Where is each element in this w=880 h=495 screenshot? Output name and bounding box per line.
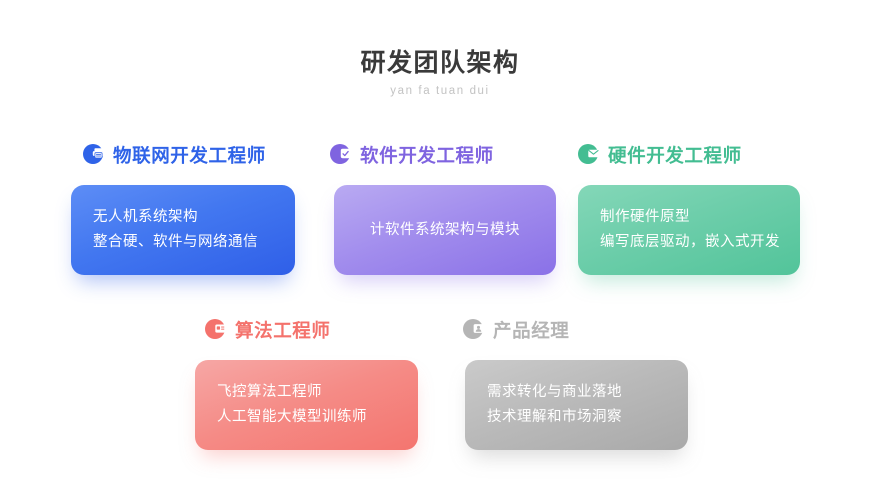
card-line: 整合硬、软件与网络通信	[93, 230, 273, 255]
card-line: 需求转化与商业落地	[487, 380, 666, 405]
role-heading-label: 软件开发工程师	[360, 142, 494, 168]
role-heading-software[interactable]: 软件开发工程师	[330, 142, 494, 168]
role-card-software[interactable]: 计软件系统架构与模块	[334, 185, 556, 275]
envelope-icon	[578, 144, 600, 166]
card-line: 飞控算法工程师	[217, 380, 396, 405]
role-heading-product[interactable]: 产品经理	[463, 317, 569, 343]
role-heading-iot[interactable]: 物联网开发工程师	[83, 142, 266, 168]
badge-glyph	[339, 147, 352, 160]
role-heading-label: 物联网开发工程师	[113, 142, 266, 168]
role-heading-algorithm[interactable]: 算法工程师	[205, 317, 331, 343]
role-card-hardware[interactable]: 制作硬件原型 编写底层驱动，嵌入式开发	[578, 185, 800, 275]
clipboard-check-icon	[330, 144, 352, 166]
user-badge-icon	[463, 319, 485, 341]
role-heading-label: 产品经理	[493, 317, 569, 343]
card-line: 技术理解和市场洞察	[487, 405, 666, 430]
badge-glyph	[92, 147, 105, 160]
role-heading-label: 硬件开发工程师	[608, 142, 742, 168]
role-heading-label: 算法工程师	[235, 317, 331, 343]
card-line: 计软件系统架构与模块	[356, 218, 534, 243]
card-line: 制作硬件原型	[600, 205, 778, 230]
card-line: 无人机系统架构	[93, 205, 273, 230]
card-id-icon	[205, 319, 227, 341]
page-title: 研发团队架构	[0, 48, 880, 78]
printer-icon	[83, 144, 105, 166]
role-card-iot[interactable]: 无人机系统架构 整合硬、软件与网络通信	[71, 185, 295, 275]
badge-glyph	[214, 322, 227, 335]
card-line: 编写底层驱动，嵌入式开发	[600, 230, 778, 255]
page-subtitle: yan fa tuan dui	[0, 85, 880, 97]
title-block: 研发团队架构 yan fa tuan dui	[0, 48, 880, 97]
badge-glyph	[587, 147, 600, 160]
role-card-algorithm[interactable]: 飞控算法工程师 人工智能大模型训练师	[195, 360, 418, 450]
slide-canvas: 研发团队架构 yan fa tuan dui 物联网开发工程师 软件开发工程师	[0, 0, 880, 495]
role-heading-hardware[interactable]: 硬件开发工程师	[578, 142, 742, 168]
card-line: 人工智能大模型训练师	[217, 405, 396, 430]
badge-glyph	[472, 322, 485, 335]
role-card-product[interactable]: 需求转化与商业落地 技术理解和市场洞察	[465, 360, 688, 450]
